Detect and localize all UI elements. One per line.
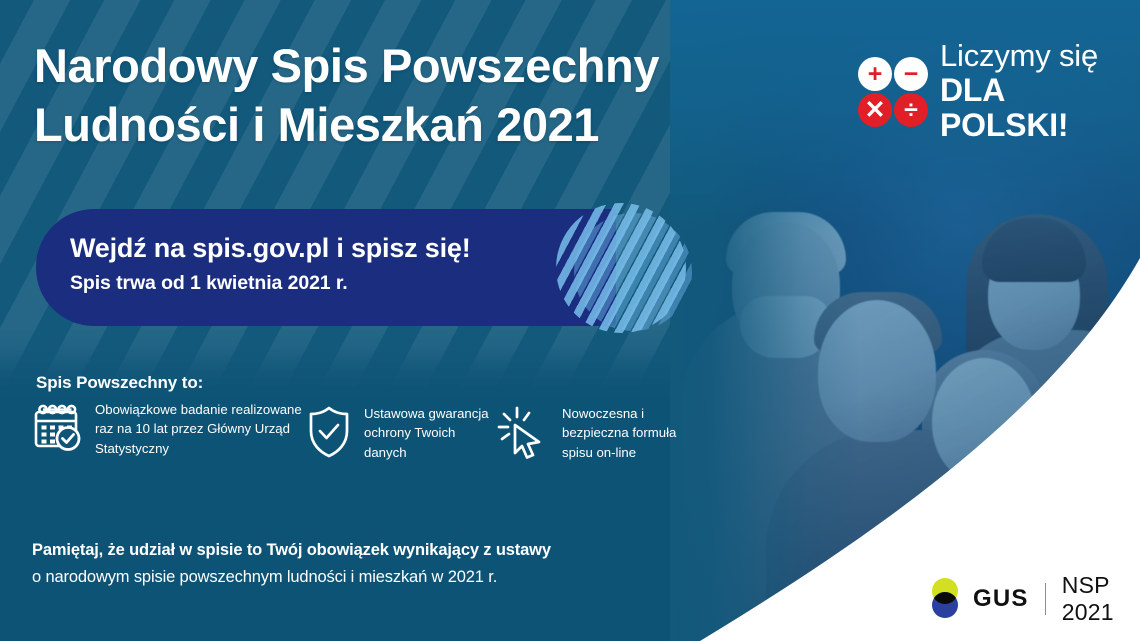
calendar-check-icon (30, 400, 84, 454)
footer-divider (1045, 583, 1046, 615)
cta-text-block: Wejdź na spis.gov.pl i spisz się! Spis t… (70, 231, 471, 297)
legal-note-line-1: Pamiętaj, że udział w spisie to Twój obo… (32, 538, 692, 564)
liczymy-sie-logo: + − ✕ ÷ Liczymy się DLA POLSKI! (858, 40, 1140, 144)
feature-item-obligatory: Obowiązkowe badanie realizowane raz na 1… (30, 400, 305, 458)
multiply-icon: ✕ (858, 93, 892, 127)
cursor-click-icon (495, 404, 551, 460)
feature-text: Nowoczesna i bezpieczna formuła spisu on… (562, 404, 695, 462)
gus-logo-mark-icon (928, 577, 962, 621)
cta-stripe-circle-front (556, 203, 686, 333)
title-line-2: Ludności i Mieszkań 2021 (34, 95, 794, 154)
legal-note: Pamiętaj, że udział w spisie to Twój obo… (32, 538, 692, 590)
features-list: Obowiązkowe badanie realizowane raz na 1… (30, 400, 695, 462)
logo-tagline-line-1: Liczymy się (940, 40, 1140, 73)
campaign-label: NSP 2021 (1062, 572, 1140, 626)
cta-subline: Spis trwa od 1 kwietnia 2021 r. (70, 269, 471, 297)
feature-item-legal-guarantee: Ustawowa gwarancja ochrony Twoich danych (305, 400, 495, 462)
feature-item-online-form: Nowoczesna i bezpieczna formuła spisu on… (495, 400, 695, 462)
logo-wordmark: Liczymy się DLA POLSKI! (940, 40, 1140, 144)
minus-icon: − (894, 57, 928, 91)
page-title: Narodowy Spis Powszechny Ludności i Mies… (34, 36, 794, 154)
logo-tagline-line-2: DLA POLSKI! (940, 73, 1140, 145)
math-symbols-grid: + − ✕ ÷ (858, 57, 928, 127)
plus-icon: + (858, 57, 892, 91)
shield-check-icon (305, 404, 353, 460)
legal-note-line-2: o narodowym spisie powszechnym ludności … (32, 564, 692, 590)
gus-footer-logo: GUS NSP 2021 (928, 572, 1140, 626)
features-heading: Spis Powszechny to: (36, 373, 203, 393)
feature-text: Obowiązkowe badanie realizowane raz na 1… (95, 400, 305, 458)
divide-icon: ÷ (894, 93, 928, 127)
title-line-1: Narodowy Spis Powszechny (34, 39, 659, 92)
feature-text: Ustawowa gwarancja ochrony Twoich danych (364, 404, 495, 462)
cta-headline: Wejdź na spis.gov.pl i spisz się! (70, 231, 471, 266)
gus-wordmark: GUS (973, 585, 1029, 613)
nsp-2021-banner: Narodowy Spis Powszechny Ludności i Mies… (0, 0, 1140, 641)
cta-banner[interactable]: Wejdź na spis.gov.pl i spisz się! Spis t… (36, 209, 616, 326)
